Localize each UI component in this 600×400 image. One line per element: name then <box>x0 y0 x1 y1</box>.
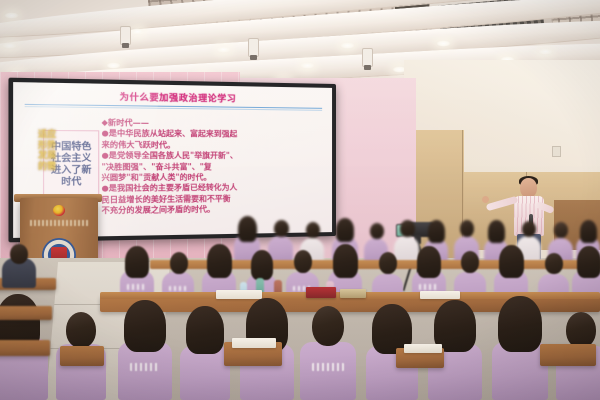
open-notebook <box>404 344 442 353</box>
slide-line: ●是党领导全国各族人民"举旗开新"、 <box>102 151 319 162</box>
slide-line: "决胜图强"、"奋斗共富"、"复 <box>102 162 319 173</box>
slide-title: 为什么要加强政治理论学习 <box>13 89 332 106</box>
downlight <box>538 48 553 55</box>
open-notebook <box>232 338 276 348</box>
party-emblem-icon <box>53 205 65 216</box>
seating-left-block <box>0 262 70 400</box>
downlight <box>2 42 17 49</box>
slide-body: ◆新时代—— ●是中华民族从站起来、富起来到强起 来的伟大飞跃时代。 ●是党领导… <box>102 118 319 217</box>
downlight <box>300 62 315 69</box>
downlight <box>216 46 231 53</box>
podium-caption-text <box>30 220 88 226</box>
downlight <box>130 28 145 35</box>
downlight <box>436 40 451 47</box>
speaker-head <box>520 178 537 198</box>
wall-switch[interactable] <box>552 146 561 157</box>
speaker-hand <box>482 196 489 203</box>
projector-icon <box>120 26 131 45</box>
desk-row-near <box>0 330 600 366</box>
downlight <box>340 42 355 49</box>
downlight <box>4 12 19 19</box>
downlight <box>106 62 121 69</box>
lecture-hall-photo: 为什么要加强政治理论学习 中国特色社会主义进入了新时代 ◆新时代—— ●是中华民… <box>0 0 600 400</box>
projector-icon <box>362 48 373 67</box>
slide-line: ●是中华民族从站起来、富起来到强起 <box>102 129 319 141</box>
slide-line: 来的伟大飞跃时代。 <box>102 140 319 152</box>
projector-icon <box>248 38 259 57</box>
